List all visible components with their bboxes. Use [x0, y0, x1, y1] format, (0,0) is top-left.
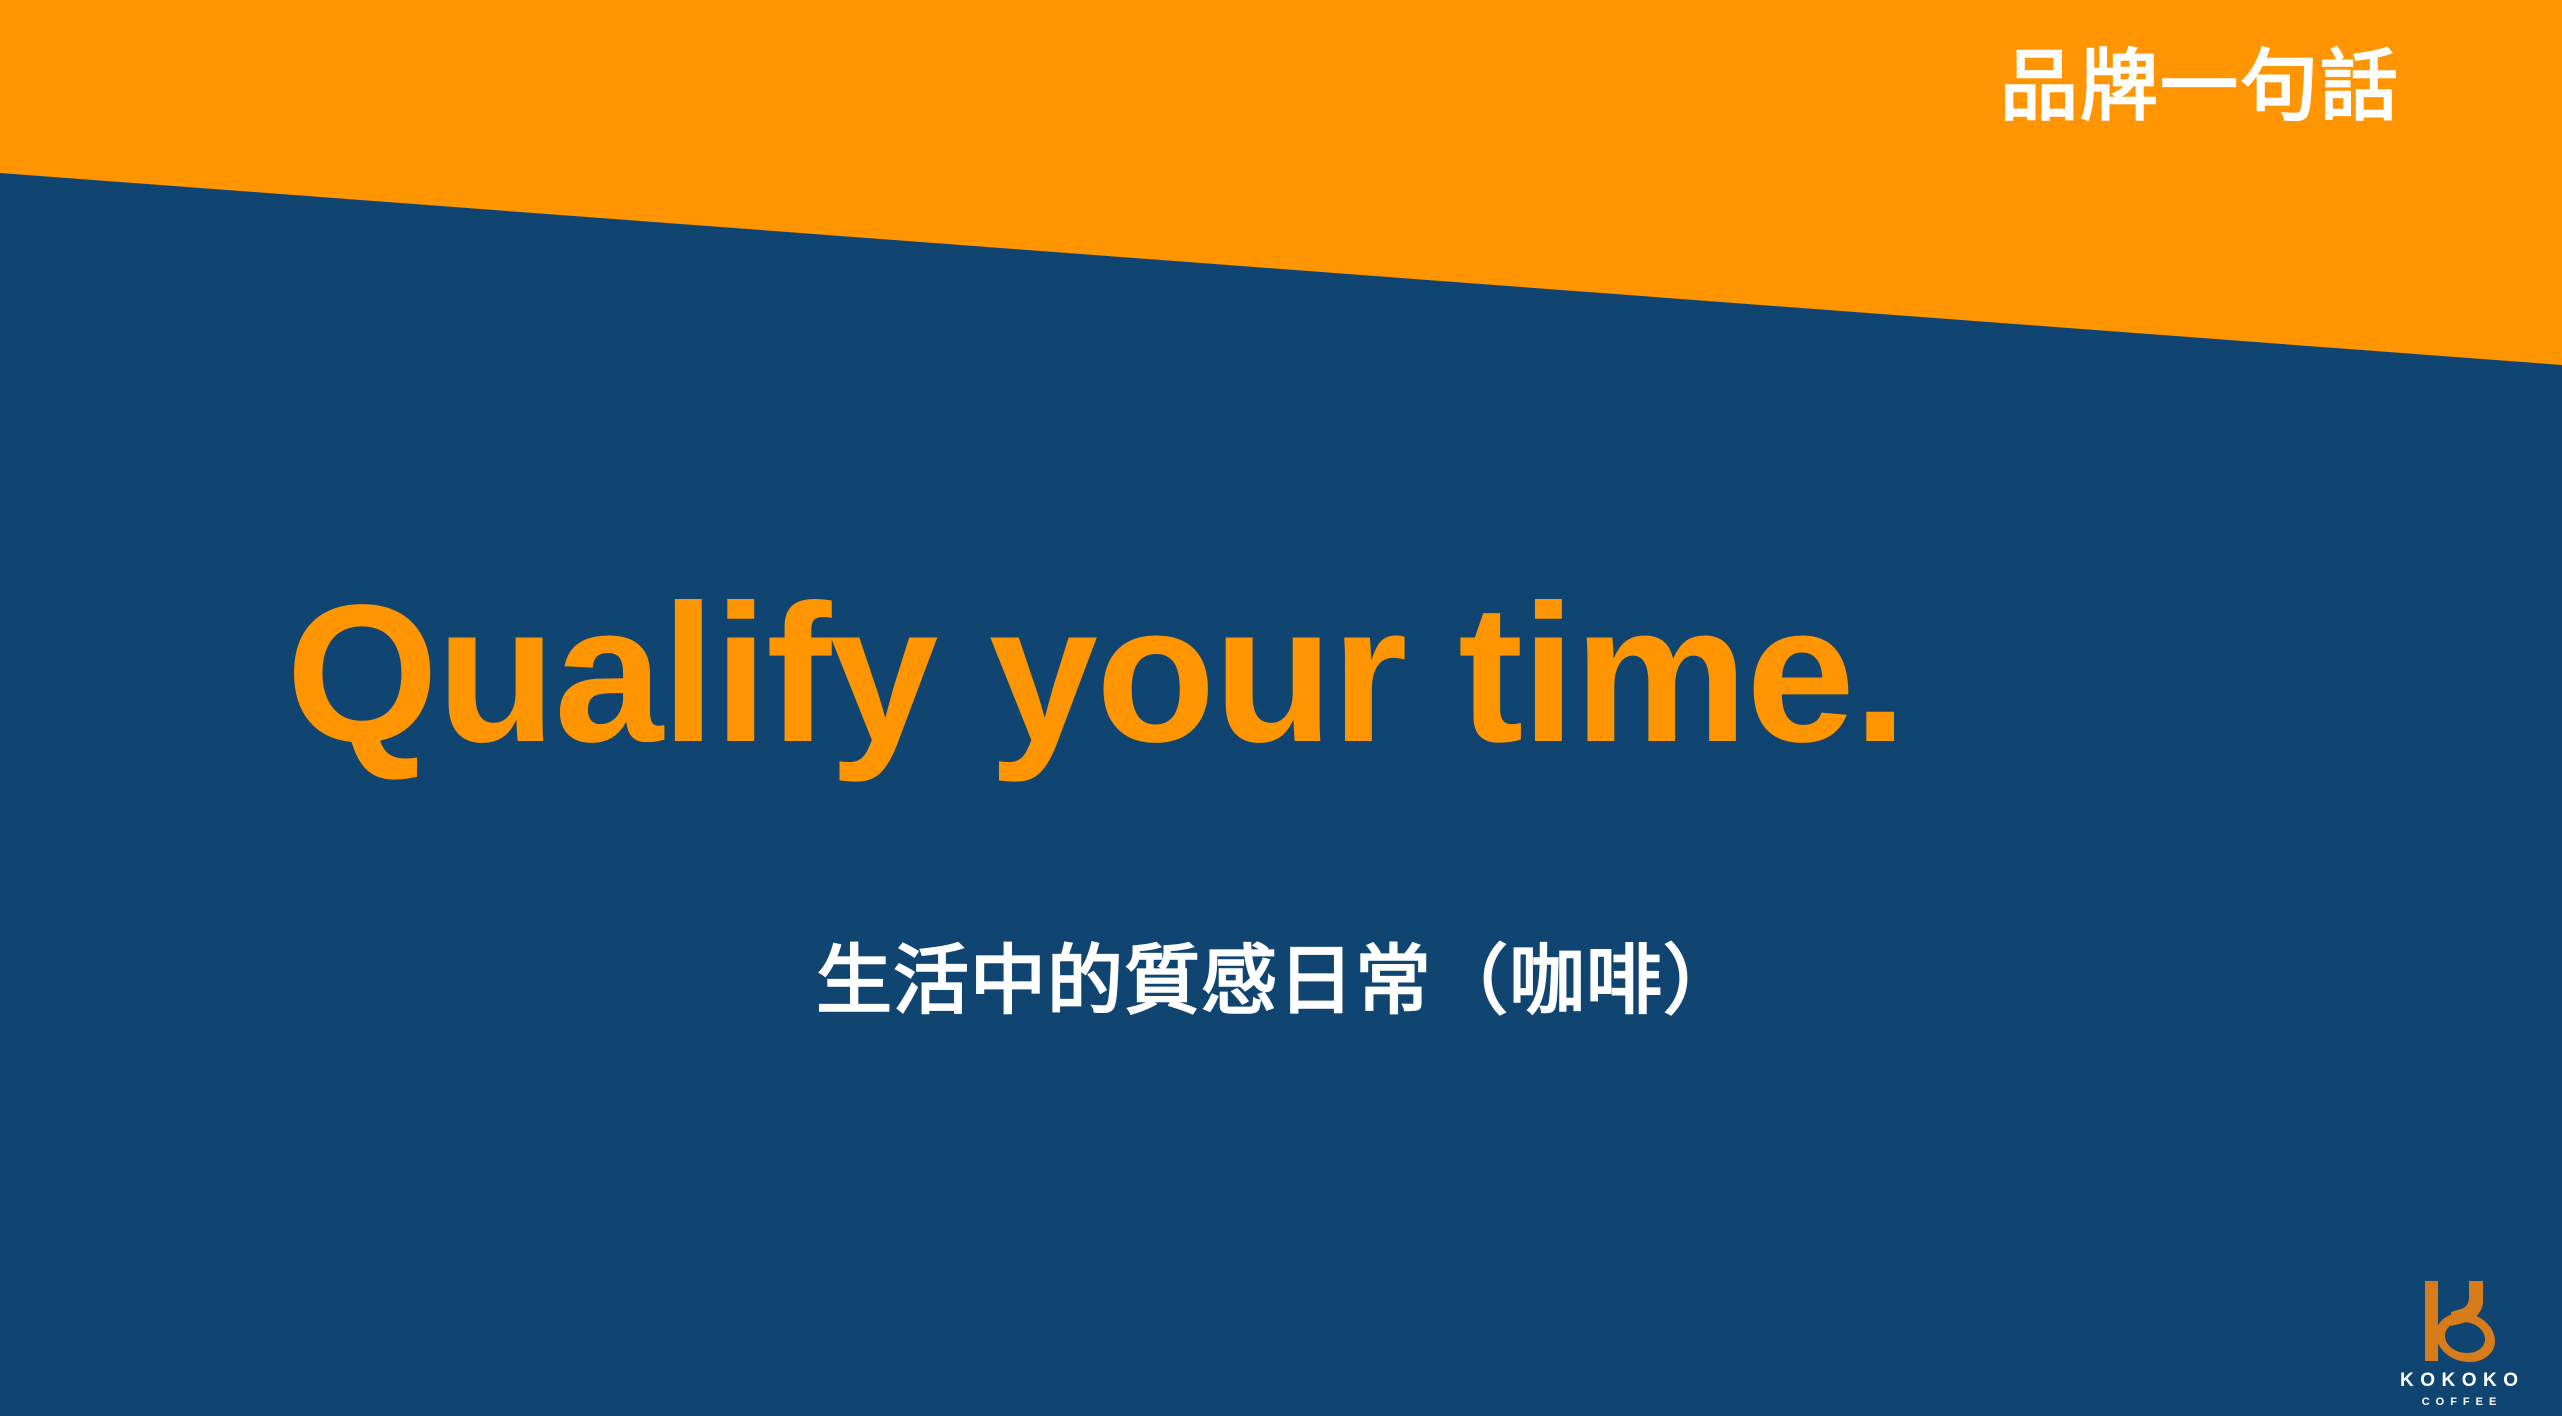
logo-tagline: COFFEE: [2416, 1397, 2503, 1408]
brand-logo: KOKOKO COFFEE: [2384, 1279, 2534, 1408]
logo-wordmark: KOKOKO: [2394, 1371, 2525, 1390]
subtitle-text: 生活中的質感日常（咖啡）: [816, 940, 1740, 1024]
eyebrow-label: 品牌一句話: [2000, 44, 2400, 128]
kokoko-k-monogram-icon: [2411, 1279, 2507, 1365]
page-title: Qualify your time.: [286, 576, 1905, 772]
brand-slide: 品牌一句話 Qualify your time. 生活中的質感日常（咖啡） KO…: [0, 0, 2562, 1416]
